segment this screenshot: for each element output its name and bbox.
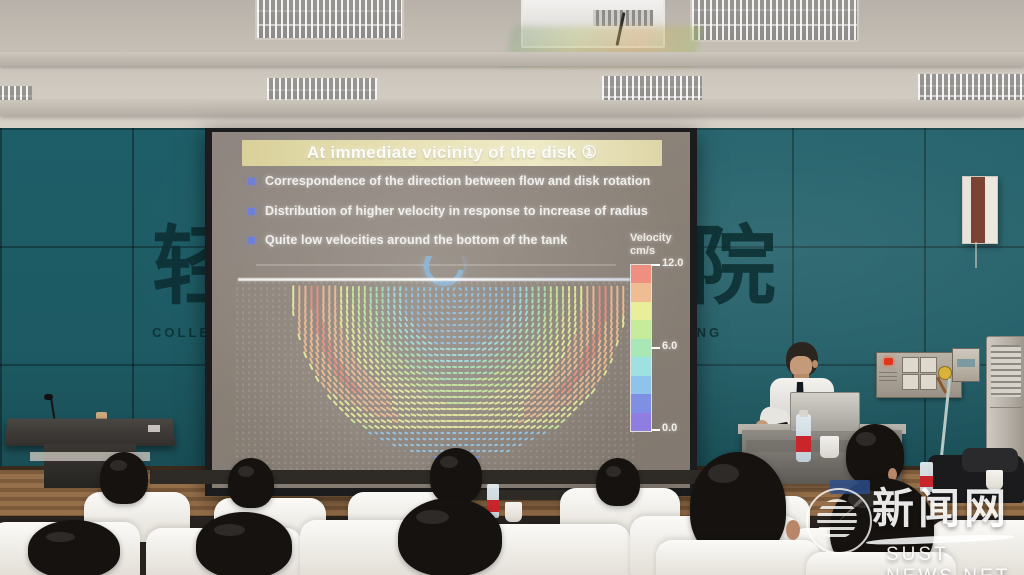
hair-highlight: [708, 464, 739, 483]
colorbar-band: [631, 320, 651, 338]
ac-seam: [990, 407, 1022, 408]
audience-head: [228, 458, 274, 508]
bullet-text: Correspondence of the direction between …: [265, 174, 650, 190]
bullet-text: Distribution of higher velocity in respo…: [265, 204, 648, 220]
colorbar-band: [631, 376, 651, 394]
colorbar-title-line2: cm/s: [630, 245, 655, 257]
audience-ear: [786, 520, 800, 540]
colorbar-title: Velocity cm/s: [630, 232, 672, 257]
power-socket[interactable]: [902, 357, 919, 373]
wall-speaker: [962, 176, 998, 244]
ceiling-light-panel: [690, 0, 859, 42]
outlet-label: [879, 372, 897, 382]
audience-head: [430, 448, 482, 504]
cfd-vector-plot: [230, 256, 642, 480]
colorbar-label-mid: 6.0: [662, 340, 677, 352]
audience-head: [196, 512, 292, 575]
power-indicator-led: [884, 358, 893, 365]
lecture-hall-scene: 轻 院 COLLE ING: [0, 0, 1024, 575]
equipment-bag: [962, 448, 1018, 472]
microphone-icon: [44, 394, 53, 400]
audience-head: [100, 452, 148, 504]
bullet-square-icon: [248, 208, 255, 215]
watermark-chinese: 新闻网: [872, 488, 1010, 530]
colorbar-label-min: 0.0: [662, 422, 677, 434]
colorbar-band: [631, 357, 651, 375]
audience-head: [28, 520, 120, 575]
colorbar-band: [631, 283, 651, 301]
hair-highlight: [856, 432, 876, 446]
light-grille-icon: [257, 0, 402, 38]
hair-highlight: [46, 532, 75, 542]
hair-highlight: [110, 460, 127, 471]
bullet-square-icon: [248, 237, 255, 244]
colorbar-tick-bottom: [651, 429, 660, 431]
colorbar-band: [631, 265, 651, 283]
light-grille-icon: [692, 0, 857, 40]
slide-title-bar: At immediate vicinity of the disk ①: [242, 140, 662, 166]
audience-shoulders: [656, 540, 820, 575]
water-bottle-label: [796, 436, 811, 452]
hair-highlight: [440, 456, 458, 468]
colorbar-band: [631, 339, 651, 357]
bullet-square-icon: [248, 178, 255, 185]
seal-emblem: [817, 499, 857, 539]
presenter-ear: [812, 360, 818, 368]
watermark: 新闻网 SUST NEWS NET: [806, 482, 1018, 570]
paper-cup: [820, 436, 839, 458]
presenter-face: [790, 356, 812, 376]
audience-head: [398, 498, 502, 575]
colorbar-label-max: 12.0: [662, 257, 683, 269]
velocity-colorbar: Velocity cm/s 12.0 6.0 0.0: [622, 232, 686, 444]
slide-title: At immediate vicinity of the disk ①: [307, 143, 597, 163]
wall-english-left: COLLE: [152, 325, 211, 340]
list-item: Correspondence of the direction between …: [248, 174, 668, 190]
colorbar-gradient: [630, 264, 652, 432]
colorbar-band: [631, 394, 651, 412]
colorbar-tick-mid: [651, 347, 660, 349]
lectern-top: [5, 419, 176, 446]
power-socket[interactable]: [902, 374, 919, 390]
ceiling-light-panel: [255, 0, 404, 40]
wall-switch-box[interactable]: [952, 348, 980, 382]
list-item: Distribution of higher velocity in respo…: [248, 204, 668, 220]
power-socket[interactable]: [920, 374, 937, 390]
slide-bullet-list: Correspondence of the direction between …: [248, 174, 668, 263]
colorbar-title-line1: Velocity: [630, 232, 672, 244]
wall-chinese-char-right: 院: [690, 228, 776, 307]
speaker-mount: [975, 242, 977, 268]
ceiling-beam: [0, 52, 1024, 66]
list-item: Quite low velocities around the bottom o…: [248, 233, 668, 249]
hair-highlight: [238, 466, 254, 477]
hair-highlight: [606, 466, 621, 477]
power-socket[interactable]: [920, 357, 937, 373]
paper-cup: [505, 502, 522, 522]
bullet-text: Quite low velocities around the bottom o…: [265, 233, 567, 249]
university-seal-icon: [806, 488, 872, 554]
projection-screen: At immediate vicinity of the disk ① Corr…: [212, 132, 690, 488]
water-bottle-cap: [799, 410, 808, 417]
audience-head: [596, 458, 640, 506]
ceiling-beam: [0, 100, 1024, 116]
lectern-name-plate: [148, 425, 160, 432]
ac-vent-icon: [991, 345, 1021, 397]
watermark-english: SUST NEWS NET: [886, 544, 1018, 575]
plot-haze: [230, 256, 642, 480]
hair-highlight: [416, 510, 449, 524]
colorbar-band: [631, 413, 651, 431]
hair-highlight: [214, 524, 245, 536]
ceiling: [0, 0, 1024, 132]
colorbar-tick-top: [651, 264, 660, 266]
colorbar-band: [631, 302, 651, 320]
